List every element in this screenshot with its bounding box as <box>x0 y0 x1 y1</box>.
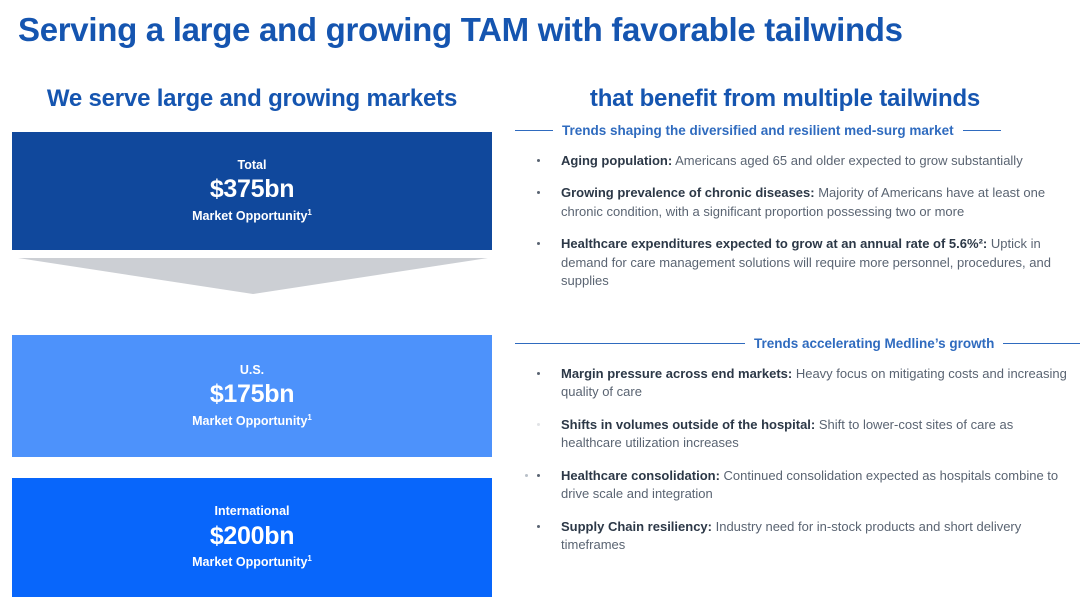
divider-rule-left <box>515 343 745 344</box>
right-column: that benefit from multiple tailwinds Tre… <box>505 78 1080 597</box>
tam-box-subtitle-text: Market Opportunity <box>192 555 307 569</box>
bullet-lead: Healthcare expenditures expected to grow… <box>561 236 987 251</box>
tam-box-footnote-marker: 1 <box>307 413 311 422</box>
list-item: Margin pressure across end markets: Heav… <box>515 365 1077 402</box>
tam-box-subtitle-text: Market Opportunity <box>192 414 307 428</box>
bullet-lead: Margin pressure across end markets: <box>561 366 792 381</box>
section-divider: Trends shaping the diversified and resil… <box>515 123 1077 138</box>
slide-body: We serve large and growing markets Total… <box>0 78 1080 597</box>
bullet-dot-icon <box>537 159 540 162</box>
tam-box-subtitle: Market Opportunity1 <box>192 208 312 225</box>
bullet-dot-icon <box>537 525 540 528</box>
tam-box-subtitle-text: Market Opportunity <box>192 209 307 223</box>
tam-box-footnote-marker: 1 <box>307 554 311 563</box>
list-item: Healthcare expenditures expected to grow… <box>515 235 1077 290</box>
down-chevron-arrow-icon <box>18 258 488 294</box>
tam-box-value: $175bn <box>210 380 294 410</box>
bullet-lead: Shifts in volumes outside of the hospita… <box>561 417 815 432</box>
bullet-dot-icon <box>537 474 540 477</box>
left-column: We serve large and growing markets Total… <box>0 78 505 597</box>
tam-box-subtitle: Market Opportunity1 <box>192 413 312 430</box>
divider-rule-right <box>1003 343 1080 344</box>
tam-box-footnote-marker: 1 <box>307 208 311 217</box>
tam-box-label: U.S. <box>240 363 264 379</box>
bullet-lead: Aging population: <box>561 153 672 168</box>
bullet-text: Americans aged 65 and older expected to … <box>672 153 1023 168</box>
bullet-lead: Growing prevalence of chronic diseases: <box>561 185 815 200</box>
tam-box-value: $375bn <box>210 175 294 205</box>
bullet-dot-icon <box>537 372 540 375</box>
right-column-heading: that benefit from multiple tailwinds <box>505 85 1065 113</box>
bullet-dot-icon <box>537 191 540 194</box>
bullet-dot-icon <box>537 423 540 426</box>
tam-box-total: Total $375bn Market Opportunity1 <box>12 132 492 250</box>
tam-box-international: International $200bn Market Opportunity1 <box>12 478 492 597</box>
list-item: Aging population: Americans aged 65 and … <box>515 152 1077 170</box>
tam-box-value: $200bn <box>210 522 294 552</box>
bullet-lead: Healthcare consolidation: <box>561 468 720 483</box>
tam-box-subtitle: Market Opportunity1 <box>192 554 312 571</box>
bullet-list: Aging population: Americans aged 65 and … <box>515 152 1077 291</box>
list-item: Healthcare consolidation: Continued cons… <box>515 467 1077 504</box>
divider-rule-left <box>515 130 553 131</box>
section-divider: Trends accelerating Medline’s growth <box>515 336 1077 351</box>
list-item: Growing prevalence of chronic diseases: … <box>515 184 1077 221</box>
list-item: Shifts in volumes outside of the hospita… <box>515 416 1077 453</box>
tam-box-us: U.S. $175bn Market Opportunity1 <box>12 335 492 457</box>
tam-box-label: International <box>214 504 289 520</box>
section-title: Trends accelerating Medline’s growth <box>754 336 994 351</box>
left-column-heading: We serve large and growing markets <box>12 85 492 113</box>
list-item: Supply Chain resiliency: Industry need f… <box>515 518 1077 555</box>
tam-box-label: Total <box>238 158 267 174</box>
trends-section-growth: Trends accelerating Medline’s growth Mar… <box>515 336 1077 555</box>
bullet-dot-icon <box>537 242 540 245</box>
page-title: Serving a large and growing TAM with fav… <box>18 12 1062 48</box>
trends-section-market: Trends shaping the diversified and resil… <box>515 123 1077 291</box>
bullet-lead: Supply Chain resiliency: <box>561 519 712 534</box>
section-title: Trends shaping the diversified and resil… <box>562 123 954 138</box>
divider-rule-right <box>963 130 1001 131</box>
bullet-list: Margin pressure across end markets: Heav… <box>515 365 1077 555</box>
